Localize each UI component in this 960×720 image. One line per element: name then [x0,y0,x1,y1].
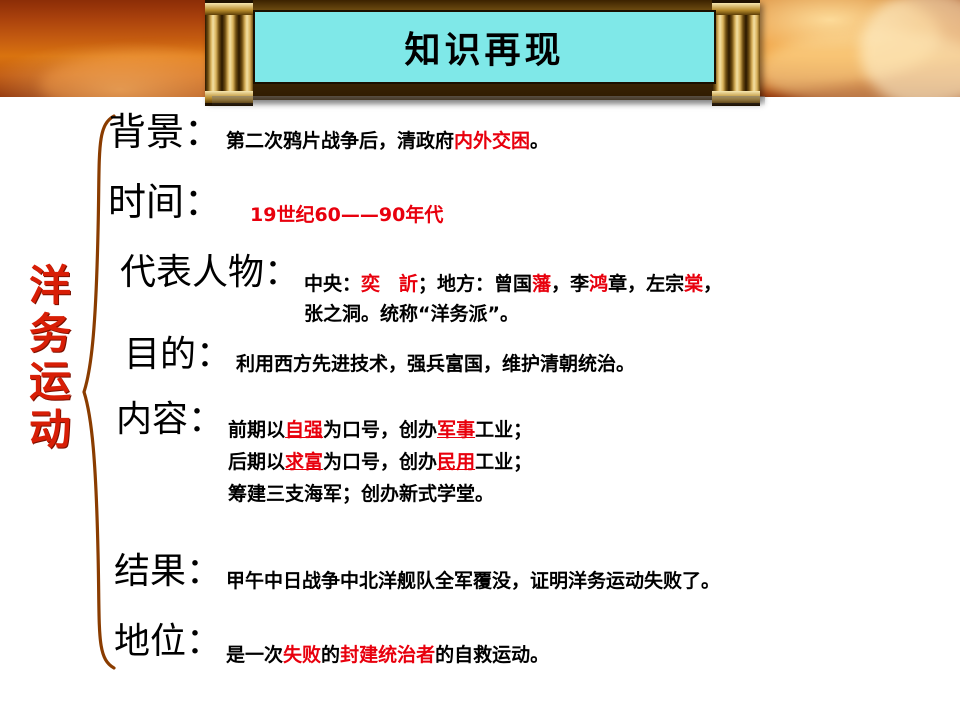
pillar-cap-top [712,3,760,15]
text-segment: 奕 訢 [361,273,418,295]
row-purpose: 目的：利用西方先进技术，强兵富国，维护清朝统治。 [124,335,635,379]
text-segment: ， [703,273,722,295]
text-segment: 第二次鸦片战争后，清政府 [226,130,454,152]
row-status: 地位：是一次失败的封建统治者的自救运动。 [114,622,549,670]
text-segment: 前期以 [228,419,285,441]
text-segment: 19世纪60——90年代 [250,204,443,226]
topic-vertical-char: 务 [20,310,80,358]
text-segment: 。 [530,130,549,152]
row-content-label: 内容： [116,400,224,440]
row-result: 结果：甲午中日战争中北洋舰队全军覆没，证明洋务运动失败了。 [114,552,720,596]
row-background-value: 第二次鸦片战争后，清政府内外交困。 [222,112,549,156]
text-segment: 的自救运动。 [435,644,549,666]
text-segment: 是一次 [226,644,283,666]
gold-pillar-left-icon [205,0,253,106]
title-frame: 知识再现 [205,0,760,100]
text-segment: 的 [321,644,340,666]
row-background: 背景：第二次鸦片战争后，清政府内外交困。 [108,112,549,156]
row-representatives: 代表人物：中央：奕 訢；地方：曾国藩，李鸿章，左宗棠，张之洞。统称“洋务派”。 [120,253,722,329]
text-segment: 甲午中日战争中北洋舰队全军覆没，证明洋务运动失败了。 [226,570,720,592]
page-title: 知识再现 [404,21,564,73]
row-time: 时间：19世纪60——90年代 [108,182,443,230]
row-content-line: 后期以求富为口号，创办民用工业； [228,446,532,478]
row-background-label: 背景： [108,112,222,152]
text-segment: 内外交困 [454,130,530,152]
row-status-label: 地位： [114,622,222,662]
row-purpose-value: 利用西方先进技术，强兵富国，维护清朝统治。 [232,335,635,379]
text-segment: 为口号，创办 [323,451,437,473]
row-representatives-label: 代表人物： [120,253,300,293]
row-result-value: 甲午中日战争中北洋舰队全军覆没，证明洋务运动失败了。 [222,552,720,596]
text-segment: 失败 [283,644,321,666]
text-segment: 棠 [684,273,703,295]
text-segment: 后期以 [228,451,285,473]
row-time-value: 19世纪60——90年代 [222,182,443,230]
text-segment: 军事 [437,419,475,441]
text-segment: 张之洞。统称“洋务派”。 [304,303,519,325]
row-content: 内容：前期以自强为口号，创办军事工业；后期以求富为口号，创办民用工业；筹建三支海… [116,400,532,510]
row-result-line: 甲午中日战争中北洋舰队全军覆没，证明洋务运动失败了。 [226,566,720,596]
text-segment: 中央： [304,273,361,295]
text-segment: ，李 [551,273,589,295]
row-time-line: 19世纪60——90年代 [250,200,443,230]
text-segment: 工业； [475,419,532,441]
topic-vertical-label: 洋务运动 [20,262,80,454]
text-segment: 为口号，创办 [323,419,437,441]
row-result-label: 结果： [114,552,222,592]
row-purpose-label: 目的： [124,335,232,375]
cloud-decoration [860,0,960,97]
row-time-label: 时间： [108,182,222,222]
topic-vertical-char: 动 [20,406,80,454]
text-segment: 求富 [285,451,323,473]
row-content-value: 前期以自强为口号，创办军事工业；后期以求富为口号，创办民用工业；筹建三支海军；创… [224,400,532,510]
row-content-line: 筹建三支海军；创办新式学堂。 [228,478,532,510]
text-segment: 藩 [532,273,551,295]
row-content-line: 前期以自强为口号，创办军事工业； [228,414,532,446]
topic-vertical-char: 运 [20,358,80,406]
row-representatives-line: 中央：奕 訢；地方：曾国藩，李鸿章，左宗棠， [304,269,722,299]
title-frame-shadow [212,96,765,106]
title-plate: 知识再现 [253,10,716,84]
text-segment: ；地方：曾国 [418,273,532,295]
text-segment: 封建统治者 [340,644,435,666]
text-segment: 利用西方先进技术，强兵富国，维护清朝统治。 [236,353,635,375]
text-segment: 章，左宗 [608,273,684,295]
row-background-line: 第二次鸦片战争后，清政府内外交困。 [226,126,549,156]
row-status-value: 是一次失败的封建统治者的自救运动。 [222,622,549,670]
text-segment: 工业； [475,451,532,473]
row-purpose-line: 利用西方先进技术，强兵富国，维护清朝统治。 [236,349,635,379]
text-segment: 鸿 [589,273,608,295]
text-segment: 筹建三支海军；创办新式学堂。 [228,483,494,505]
row-representatives-line: 张之洞。统称“洋务派”。 [304,299,722,329]
text-segment: 自强 [285,419,323,441]
row-representatives-value: 中央：奕 訢；地方：曾国藩，李鸿章，左宗棠，张之洞。统称“洋务派”。 [300,253,722,329]
text-segment: 民用 [437,451,475,473]
pillar-cap-top [205,3,253,15]
row-status-line: 是一次失败的封建统治者的自救运动。 [226,640,549,670]
topic-vertical-char: 洋 [20,262,80,310]
gold-pillar-right-icon [712,0,760,106]
